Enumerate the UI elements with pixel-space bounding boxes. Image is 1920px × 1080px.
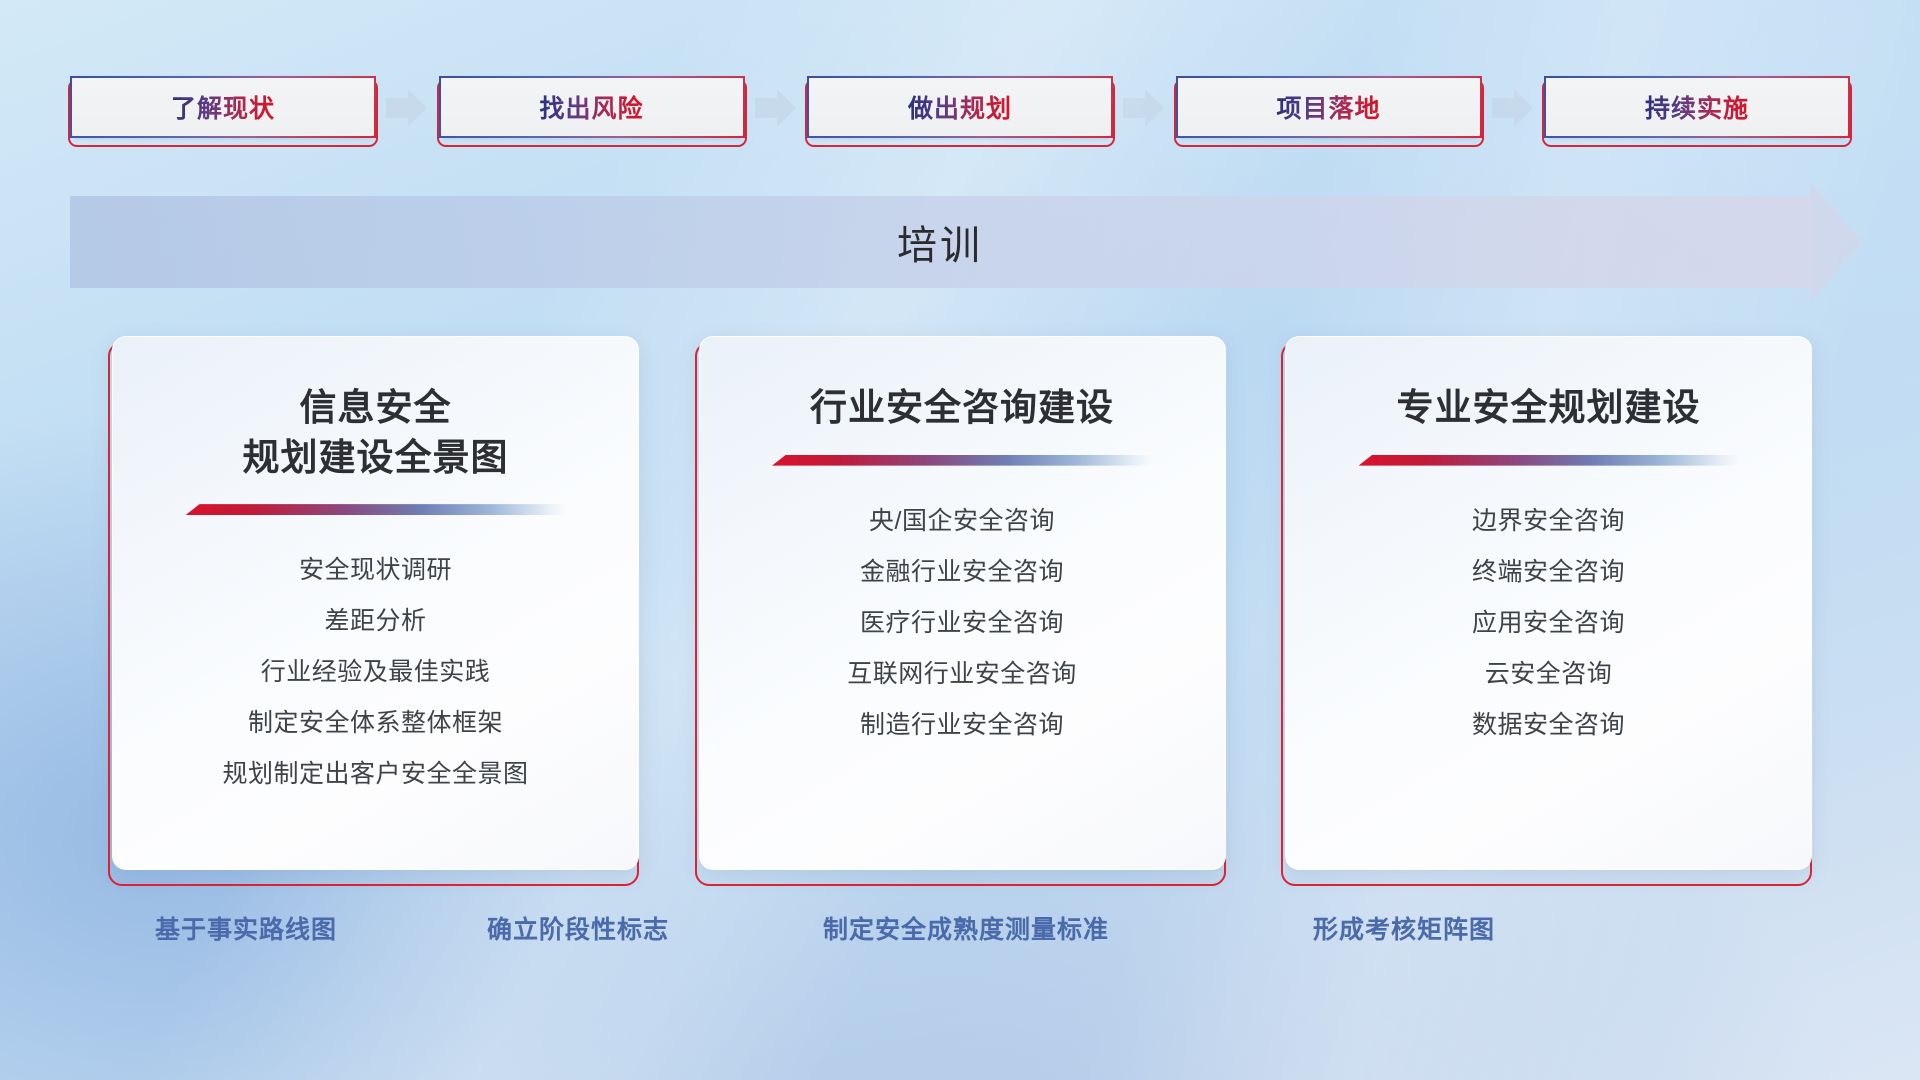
- process-step-1[interactable]: 了解现状: [70, 76, 376, 140]
- card-3-title: 专业安全规划建设: [1397, 383, 1701, 433]
- list-item: 医疗行业安全咨询: [860, 598, 1064, 649]
- step-arrow-icon-1: [384, 85, 430, 131]
- process-step-1-label: 了解现状: [171, 89, 275, 125]
- step-arrow-icon-2: [753, 85, 799, 131]
- card-1-list: 安全现状调研 差距分析 行业经验及最佳实践 制定安全体系整体框架 规划制定出客户…: [222, 545, 528, 800]
- list-item: 应用安全咨询: [1472, 598, 1625, 649]
- banner-arrow-tip-icon: [1810, 182, 1862, 302]
- process-step-5-face: 持续实施: [1544, 76, 1850, 138]
- process-step-2-face: 找出风险: [439, 76, 745, 138]
- process-step-4-face: 项目落地: [1176, 76, 1482, 138]
- process-step-4-label: 项目落地: [1276, 89, 1380, 125]
- card-3-list: 边界安全咨询 终端安全咨询 应用安全咨询 云安全咨询 数据安全咨询: [1472, 496, 1625, 751]
- card-2-face: 行业安全咨询建设 央/国企安全咨询 金融行业安全咨询 医疗行业安全咨询 互联网行…: [699, 336, 1226, 870]
- process-step-4[interactable]: 项目落地: [1176, 76, 1482, 140]
- list-item: 终端安全咨询: [1472, 547, 1625, 598]
- card-3[interactable]: 专业安全规划建设 边界安全咨询 终端安全咨询 应用安全咨询 云安全咨询 数据安全…: [1285, 336, 1812, 876]
- process-step-2-label: 找出风险: [539, 89, 643, 125]
- process-step-3-face: 做出规划: [807, 76, 1113, 138]
- list-item: 安全现状调研: [299, 545, 452, 596]
- process-step-2[interactable]: 找出风险: [439, 76, 745, 140]
- card-1[interactable]: 信息安全 规划建设全景图 安全现状调研 差距分析 行业经验及最佳实践 制定安全体…: [112, 336, 639, 876]
- list-item: 行业经验及最佳实践: [261, 647, 491, 698]
- list-item: 互联网行业安全咨询: [847, 649, 1077, 700]
- card-row: 信息安全 规划建设全景图 安全现状调研 差距分析 行业经验及最佳实践 制定安全体…: [112, 336, 1812, 876]
- step-arrow-icon-4: [1490, 85, 1536, 131]
- slide-canvas: 了解现状 找出风险 做出规划 项目落地: [0, 0, 1920, 1080]
- list-item: 规划制定出客户安全全景图: [222, 749, 528, 800]
- card-1-divider: [186, 504, 566, 515]
- card-2[interactable]: 行业安全咨询建设 央/国企安全咨询 金融行业安全咨询 医疗行业安全咨询 互联网行…: [699, 336, 1226, 876]
- card-3-divider: [1359, 455, 1739, 466]
- process-step-1-face: 了解现状: [70, 76, 376, 138]
- process-step-5[interactable]: 持续实施: [1544, 76, 1850, 140]
- footer-label-row: 基于事实路线图 确立阶段性标志 制定安全成熟度测量标准 形成考核矩阵图: [0, 910, 1920, 960]
- process-step-5-label: 持续实施: [1645, 89, 1749, 125]
- footer-label-3: 制定安全成熟度测量标准: [823, 910, 1109, 946]
- process-step-row: 了解现状 找出风险 做出规划 项目落地: [70, 76, 1850, 140]
- footer-label-4: 形成考核矩阵图: [1313, 910, 1495, 946]
- training-banner: 培训: [70, 196, 1850, 288]
- list-item: 差距分析: [324, 596, 426, 647]
- list-item: 制定安全体系整体框架: [248, 698, 503, 749]
- list-item: 制造行业安全咨询: [860, 700, 1064, 751]
- process-step-3[interactable]: 做出规划: [807, 76, 1113, 140]
- list-item: 数据安全咨询: [1472, 700, 1625, 751]
- card-1-face: 信息安全 规划建设全景图 安全现状调研 差距分析 行业经验及最佳实践 制定安全体…: [112, 336, 639, 870]
- card-1-title: 信息安全 规划建设全景图: [243, 383, 509, 482]
- footer-label-1: 基于事实路线图: [155, 910, 337, 946]
- card-3-face: 专业安全规划建设 边界安全咨询 终端安全咨询 应用安全咨询 云安全咨询 数据安全…: [1285, 336, 1812, 870]
- card-2-title: 行业安全咨询建设: [810, 383, 1114, 433]
- training-banner-title: 培训: [70, 196, 1810, 288]
- list-item: 金融行业安全咨询: [860, 547, 1064, 598]
- card-2-divider: [772, 455, 1152, 466]
- card-2-list: 央/国企安全咨询 金融行业安全咨询 医疗行业安全咨询 互联网行业安全咨询 制造行…: [847, 496, 1077, 751]
- footer-label-2: 确立阶段性标志: [487, 910, 669, 946]
- process-step-3-label: 做出规划: [908, 89, 1012, 125]
- step-arrow-icon-3: [1121, 85, 1167, 131]
- list-item: 央/国企安全咨询: [869, 496, 1055, 547]
- list-item: 云安全咨询: [1485, 649, 1613, 700]
- list-item: 边界安全咨询: [1472, 496, 1625, 547]
